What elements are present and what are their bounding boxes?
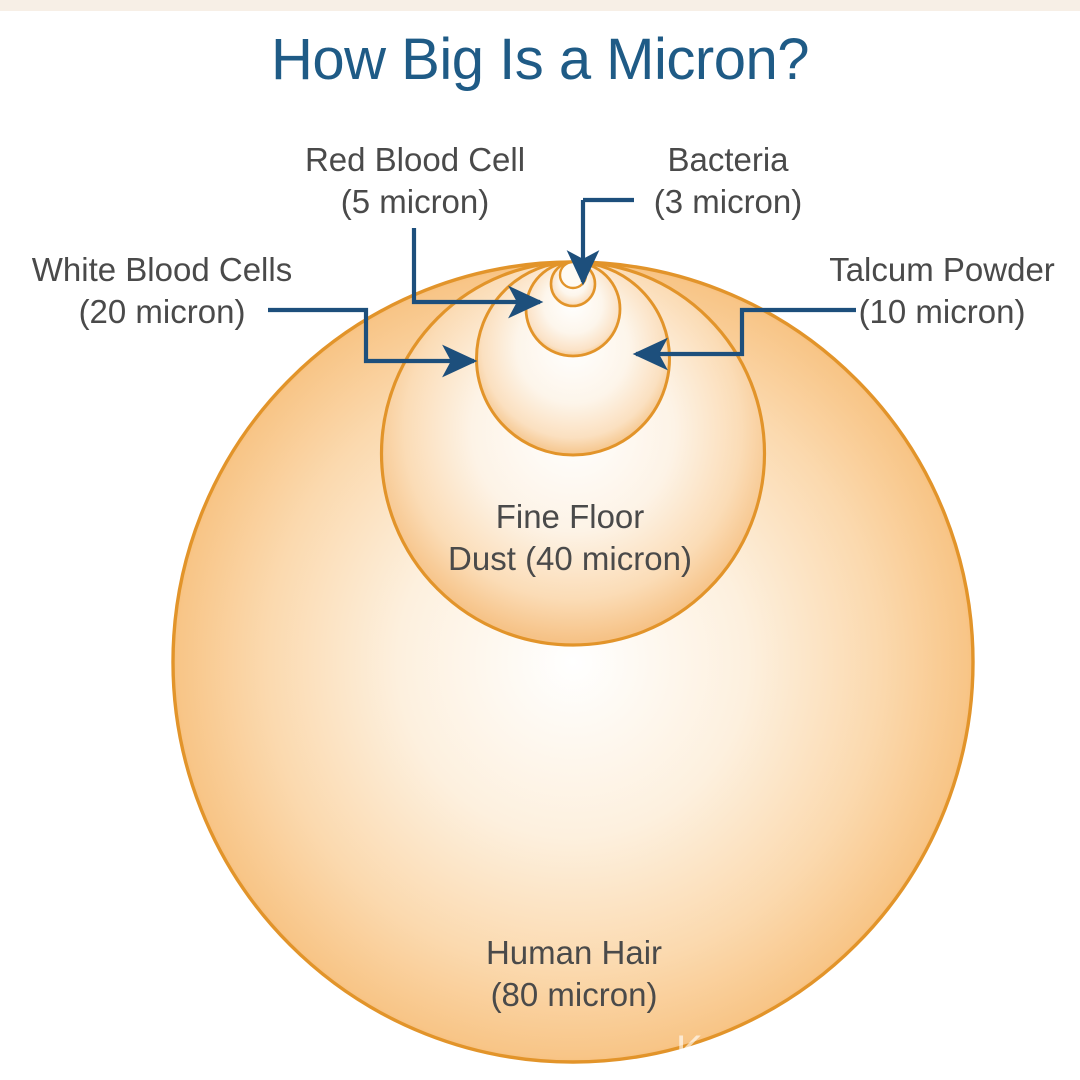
page-title: How Big Is a Micron? [0, 26, 1080, 93]
label-white-blood-cells-line2: (20 micron) [2, 291, 322, 333]
label-red-blood-cell: Red Blood Cell (5 micron) [268, 139, 562, 223]
label-human-hair-line2: (80 micron) [440, 974, 708, 1016]
label-talcum-powder-line2: (10 micron) [806, 291, 1078, 333]
label-bacteria-line2: (3 micron) [608, 181, 848, 223]
label-red-blood-cell-line2: (5 micron) [268, 181, 562, 223]
label-human-hair: Human Hair (80 micron) [440, 932, 708, 1016]
label-bacteria-line1: Bacteria [667, 141, 788, 178]
label-white-blood-cells-line1: White Blood Cells [32, 251, 292, 288]
label-talcum-powder: Talcum Powder (10 micron) [806, 249, 1078, 333]
label-fine-floor-dust-line1: Fine Floor [496, 498, 645, 535]
label-human-hair-line1: Human Hair [486, 934, 662, 971]
label-bacteria: Bacteria (3 micron) [608, 139, 848, 223]
label-white-blood-cells: White Blood Cells (20 micron) [2, 249, 322, 333]
label-red-blood-cell-line1: Red Blood Cell [305, 141, 525, 178]
label-fine-floor-dust: Fine Floor Dust (40 micron) [420, 496, 720, 580]
label-fine-floor-dust-line2: Dust (40 micron) [420, 538, 720, 580]
label-talcum-powder-line1: Talcum Powder [829, 251, 1055, 288]
